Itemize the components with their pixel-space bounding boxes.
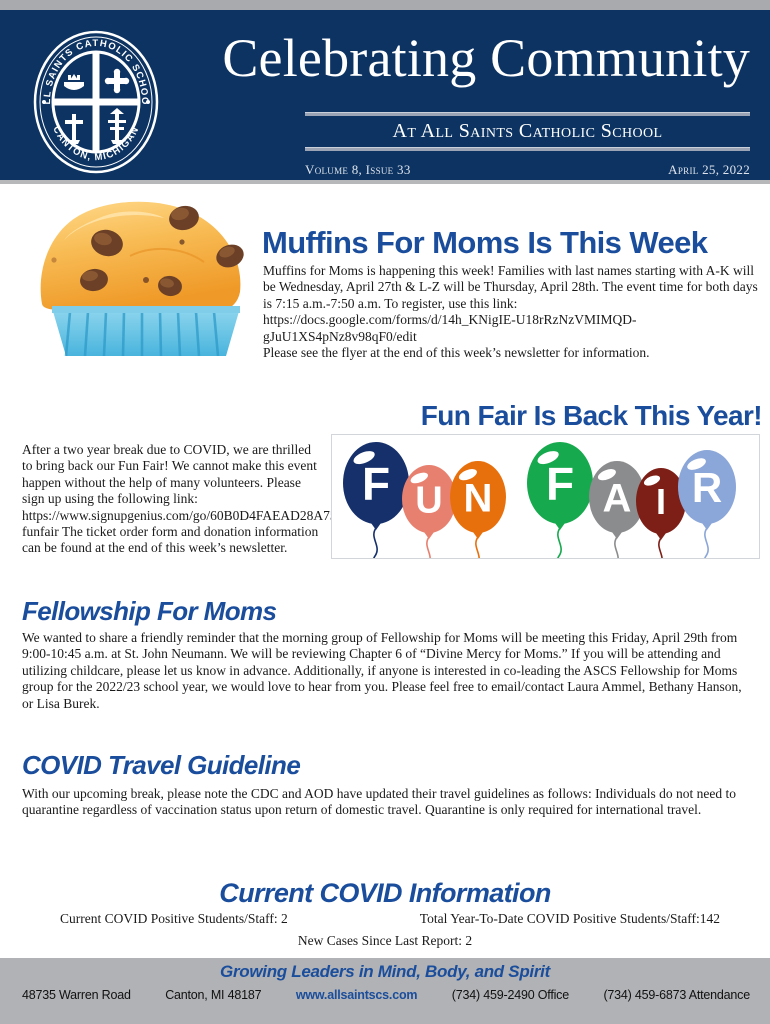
fellowship-heading: Fellowship For Moms <box>22 596 276 626</box>
balloon-letter: I <box>656 481 666 522</box>
footer-attendance-label: Attendance <box>689 988 750 1002</box>
top-gray-strip <box>0 0 770 10</box>
balloon-f-0: F <box>343 442 409 558</box>
muffins-body-block: Muffins for Moms is happening this week!… <box>263 263 760 361</box>
balloon-f-3: F <box>527 442 593 558</box>
subtitle-rule-bottom <box>305 147 750 151</box>
newsletter-page: ALL SAINTS CATHOLIC SCHOOL CANTON, MICHI… <box>0 0 770 1024</box>
footer-office-label: Office <box>538 988 569 1002</box>
footer-address: 48735 Warren Road <box>22 988 131 1002</box>
muffins-body-text: Muffins for Moms is happening this week!… <box>263 263 760 345</box>
newsletter-title: Celebrating Community <box>172 28 750 88</box>
covid-current-positive: Current COVID Positive Students/Staff: 2 <box>60 911 288 927</box>
balloon-a-4: A <box>589 461 645 558</box>
issue-date: April 25, 2022 <box>668 162 750 178</box>
balloon-letter: F <box>546 458 574 510</box>
balloon-letter: U <box>415 480 442 522</box>
covid-travel-heading: COVID Travel Guideline <box>22 750 300 780</box>
balloon-u-1: U <box>402 465 456 558</box>
fun-fair-balloons-image: FUNFAIR <box>331 434 760 559</box>
covid-travel-body-text: With our upcoming break, please note the… <box>22 786 752 819</box>
covid-stats-row-1: Current COVID Positive Students/Staff: 2… <box>60 911 720 927</box>
footer-contact-info: 48735 Warren Road Canton, MI 48187 www.a… <box>22 988 750 1002</box>
muffins-body-text-2: Please see the flyer at the end of this … <box>263 345 760 361</box>
footer-attendance-phone-group: (734) 459-6873 Attendance <box>603 988 750 1002</box>
footer-city-state-zip: Canton, MI 48187 <box>165 988 261 1002</box>
masthead-bottom-rule <box>0 180 770 184</box>
svg-text:ALL SAINTS CATHOLIC SCHOOL: ALL SAINTS CATHOLIC SCHOOL <box>28 28 150 106</box>
balloon-letter: R <box>692 464 722 511</box>
balloon-letter: F <box>362 458 390 510</box>
school-seal-logo: ALL SAINTS CATHOLIC SCHOOL CANTON, MICHI… <box>28 28 164 176</box>
footer-office-phone-group: (734) 459-2490 Office <box>452 988 569 1002</box>
funfair-body-text: After a two year break due to COVID, we … <box>22 442 322 557</box>
balloon-n-2: N <box>450 461 506 558</box>
school-tagline: Growing Leaders in Mind, Body, and Spiri… <box>0 962 770 982</box>
masthead-banner: ALL SAINTS CATHOLIC SCHOOL CANTON, MICHI… <box>0 10 770 180</box>
footer-website-link[interactable]: www.allsaintscs.com <box>296 988 417 1002</box>
balloon-letter: A <box>603 476 632 520</box>
footer-attendance-phone: (734) 459-6873 <box>603 988 686 1002</box>
page-footer: Growing Leaders in Mind, Body, and Spiri… <box>0 958 770 1024</box>
funfair-heading: Fun Fair Is Back This Year! <box>320 400 762 432</box>
fellowship-body-text: We wanted to share a friendly reminder t… <box>22 630 752 712</box>
covid-stats-row-2: New Cases Since Last Report: 2 <box>0 932 770 950</box>
balloon-r-6: R <box>678 450 736 558</box>
volume-issue: Volume 8, Issue 33 <box>305 162 411 178</box>
footer-office-phone: (734) 459-2490 <box>452 988 535 1002</box>
newsletter-subtitle: At All Saints Catholic School <box>305 116 750 147</box>
muffins-heading: Muffins For Moms Is This Week <box>262 226 762 260</box>
covid-new-cases: New Cases Since Last Report: 2 <box>298 933 472 948</box>
covid-ytd-positive: Total Year-To-Date COVID Positive Studen… <box>420 911 720 927</box>
current-covid-heading: Current COVID Information <box>0 878 770 909</box>
muffin-image <box>34 196 262 356</box>
issue-meta: Volume 8, Issue 33 April 25, 2022 <box>305 162 750 178</box>
newsletter-subtitle-block: At All Saints Catholic School <box>305 112 750 151</box>
balloon-letter: N <box>464 476 493 520</box>
